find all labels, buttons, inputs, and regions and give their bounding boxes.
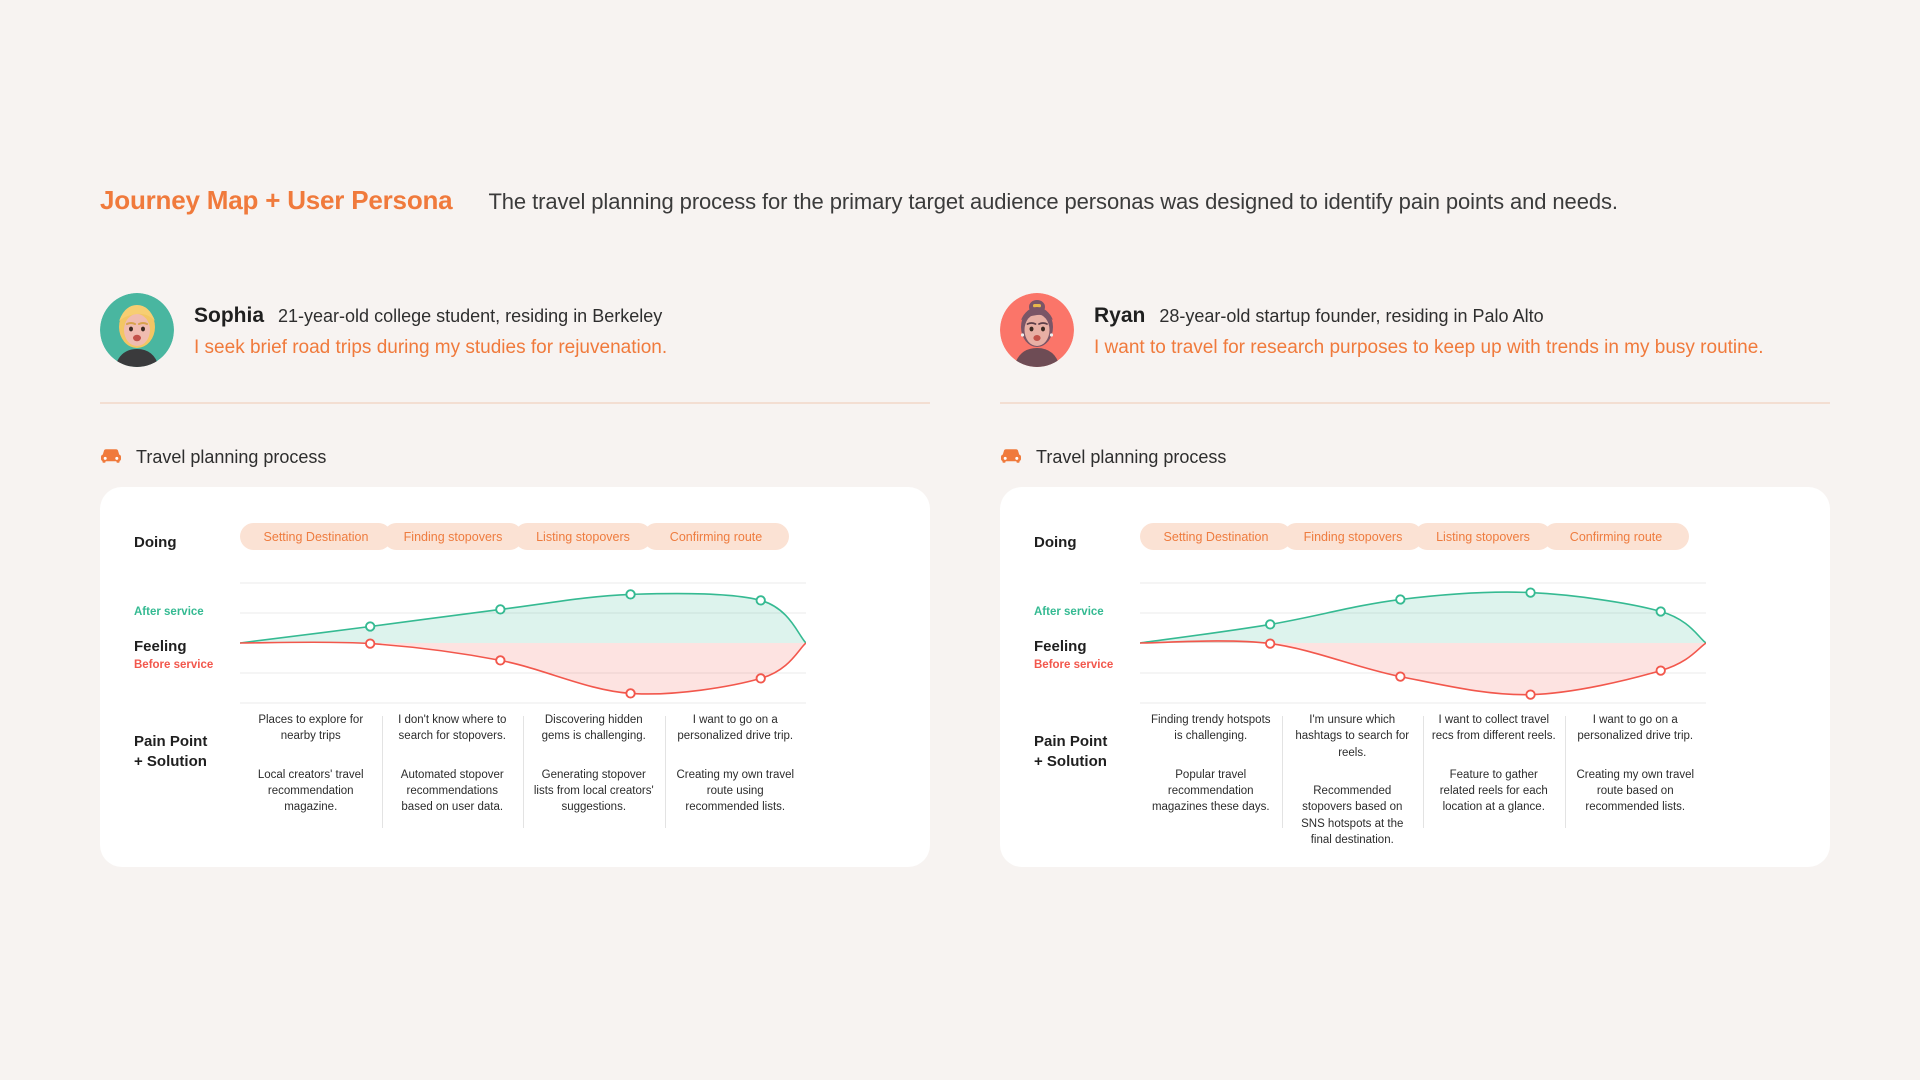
painpoint-label-line2: + Solution: [134, 752, 207, 772]
journey-card-ryan: Doing Setting Destination Finding stopov…: [1000, 487, 1830, 867]
axis-label-before-sophia: Before service: [134, 659, 213, 671]
painpoint-col-4-ryan: I want to go on a personalized drive tri…: [1565, 712, 1707, 832]
persona-description-sophia: 21-year-old college student, residing in…: [278, 306, 662, 327]
persona-quote-sophia: I seek brief road trips during my studie…: [194, 337, 667, 359]
painpoint-label-line2: + Solution: [1034, 752, 1107, 772]
painpoint-problem: I want to go on a personalized drive tri…: [673, 712, 799, 745]
persona-text-sophia: Sophia 21-year-old college student, resi…: [194, 302, 667, 359]
painpoint-label-line1: Pain Point: [134, 732, 207, 752]
painpoint-problem: I don't know where to search for stopove…: [390, 712, 516, 745]
painpoint-col-3-ryan: I want to collect travel recs from diffe…: [1423, 712, 1565, 832]
stage-pill-4-ryan[interactable]: Confirming route: [1543, 523, 1689, 550]
journey-card-sophia: Doing Setting Destination Finding stopov…: [100, 487, 930, 867]
stage-pill-1-sophia[interactable]: Setting Destination: [240, 523, 392, 550]
stage-pills-ryan: Setting Destination Finding stopovers Li…: [1140, 523, 1680, 550]
axis-label-before-ryan: Before service: [1034, 659, 1113, 671]
painpoint-solution: Automated stopover recommendations based…: [390, 767, 516, 816]
persona-description-ryan: 28-year-old startup founder, residing in…: [1159, 306, 1543, 327]
painpoint-problem: I want to collect travel recs from diffe…: [1431, 712, 1557, 745]
journey-map-page: Journey Map + User Persona The travel pl…: [0, 0, 1920, 1080]
painpoint-grid-sophia: Places to explore for nearby trips Local…: [240, 712, 806, 832]
painpoint-solution: Popular travel recommendation magazines …: [1148, 767, 1274, 816]
stage-pill-1-ryan[interactable]: Setting Destination: [1140, 523, 1292, 550]
painpoint-problem: Discovering hidden gems is challenging.: [531, 712, 657, 745]
painpoint-col-2-sophia: I don't know where to search for stopove…: [382, 712, 524, 832]
persona-column-sophia: Sophia 21-year-old college student, resi…: [100, 290, 930, 867]
stage-pill-3-ryan[interactable]: Listing stopovers: [1414, 523, 1552, 550]
feeling-chart-sophia: [240, 575, 806, 711]
painpoint-grid-ryan: Finding trendy hotspots is challenging. …: [1140, 712, 1706, 832]
painpoint-col-2-ryan: I'm unsure which hashtags to search for …: [1282, 712, 1424, 832]
painpoint-solution: Recommended stopovers based on SNS hotsp…: [1290, 783, 1416, 848]
persona-header-sophia: Sophia 21-year-old college student, resi…: [100, 290, 930, 370]
persona-name-sophia: Sophia: [194, 304, 264, 328]
painpoint-problem: I'm unsure which hashtags to search for …: [1290, 712, 1416, 761]
persona-divider-ryan: [1000, 402, 1830, 404]
painpoint-label-line1: Pain Point: [1034, 732, 1107, 752]
painpoint-problem: I want to go on a personalized drive tri…: [1573, 712, 1699, 745]
section-title-sophia: Travel planning process: [100, 447, 930, 468]
page-title: Journey Map + User Persona: [100, 185, 452, 216]
painpoint-col-1-sophia: Places to explore for nearby trips Local…: [240, 712, 382, 832]
feeling-chart-ryan: [1140, 575, 1706, 711]
row-label-painpoint-sophia: Pain Point + Solution: [134, 732, 207, 772]
painpoint-col-1-ryan: Finding trendy hotspots is challenging. …: [1140, 712, 1282, 832]
page-subtitle: The travel planning process for the prim…: [488, 189, 1617, 215]
axis-label-after-ryan: After service: [1034, 606, 1104, 618]
painpoint-solution: Local creators' travel recommendation ma…: [248, 767, 374, 816]
row-label-feeling-ryan: Feeling: [1034, 637, 1087, 657]
persona-divider-sophia: [100, 402, 930, 404]
persona-column-ryan: Ryan 28-year-old startup founder, residi…: [1000, 290, 1830, 867]
persona-quote-ryan: I want to travel for research purposes t…: [1094, 337, 1764, 359]
painpoint-solution: Creating my own travel route based on re…: [1573, 767, 1699, 816]
painpoint-problem: Places to explore for nearby trips: [248, 712, 374, 745]
persona-line-sophia: Sophia 21-year-old college student, resi…: [194, 304, 667, 328]
painpoint-col-4-sophia: I want to go on a personalized drive tri…: [665, 712, 807, 832]
section-title-text-ryan: Travel planning process: [1036, 447, 1226, 468]
stage-pill-4-sophia[interactable]: Confirming route: [643, 523, 789, 550]
avatar-sophia: [100, 293, 174, 367]
painpoint-problem: Finding trendy hotspots is challenging.: [1148, 712, 1274, 745]
avatar-ryan: [1000, 293, 1074, 367]
row-label-doing-sophia: Doing: [134, 533, 177, 553]
row-label-doing-ryan: Doing: [1034, 533, 1077, 553]
persona-header-ryan: Ryan 28-year-old startup founder, residi…: [1000, 290, 1830, 370]
row-label-feeling-sophia: Feeling: [134, 637, 187, 657]
stage-pill-2-sophia[interactable]: Finding stopovers: [383, 523, 523, 550]
stage-pill-3-sophia[interactable]: Listing stopovers: [514, 523, 652, 550]
car-icon: [1000, 447, 1022, 468]
painpoint-solution: Generating stopover lists from local cre…: [531, 767, 657, 816]
axis-label-after-sophia: After service: [134, 606, 204, 618]
painpoint-solution: Feature to gather related reels for each…: [1431, 767, 1557, 816]
painpoint-solution: Creating my own travel route using recom…: [673, 767, 799, 816]
persona-line-ryan: Ryan 28-year-old startup founder, residi…: [1094, 304, 1764, 328]
stage-pills-sophia: Setting Destination Finding stopovers Li…: [240, 523, 780, 550]
section-title-ryan: Travel planning process: [1000, 447, 1830, 468]
page-header: Journey Map + User Persona The travel pl…: [100, 185, 1618, 216]
section-title-text-sophia: Travel planning process: [136, 447, 326, 468]
row-label-painpoint-ryan: Pain Point + Solution: [1034, 732, 1107, 772]
painpoint-col-3-sophia: Discovering hidden gems is challenging. …: [523, 712, 665, 832]
stage-pill-2-ryan[interactable]: Finding stopovers: [1283, 523, 1423, 550]
persona-text-ryan: Ryan 28-year-old startup founder, residi…: [1094, 302, 1764, 359]
car-icon: [100, 447, 122, 468]
persona-name-ryan: Ryan: [1094, 304, 1145, 328]
